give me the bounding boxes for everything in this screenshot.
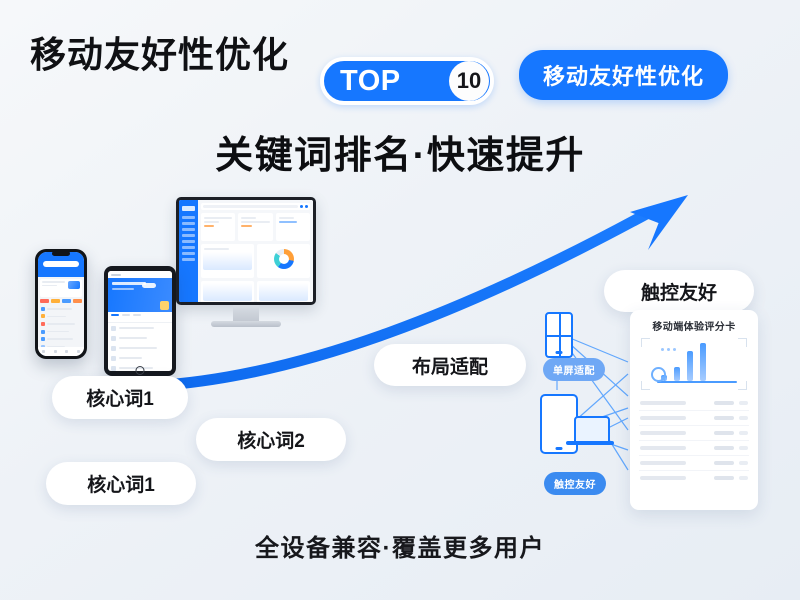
monitor-screen: [176, 197, 316, 305]
score-card-title: 移动端体验评分卡: [639, 318, 749, 333]
diagram-laptop-base: [566, 441, 614, 445]
page-subtitle: 关键词排名·快速提升: [215, 124, 585, 179]
tablet-mockup: [104, 266, 176, 376]
phone-chip-row: [38, 299, 84, 303]
poster-canvas: 移动友好性优化 TOP 10 移动友好性优化 关键词排名·快速提升: [0, 0, 800, 600]
pill-keyword-3-label: 核心词1: [87, 470, 155, 497]
pill-layout-fit-label: 布局适配: [412, 352, 488, 379]
donut-chart-card: [257, 244, 310, 278]
pill-layout-fit[interactable]: 布局适配: [374, 344, 526, 386]
pill-keyword-1-label: 核心词1: [86, 384, 154, 411]
pill-keyword-2-label: 核心词2: [237, 426, 305, 453]
dashboard-body: [198, 200, 313, 302]
table-row: [639, 441, 749, 456]
table-row: [639, 456, 749, 471]
phone-tabbar: [38, 347, 84, 356]
table-row: [639, 471, 749, 485]
phone-search-bar: [43, 261, 79, 267]
dashboard-sidebar: [179, 200, 198, 302]
top-badge-number: 10: [449, 61, 489, 101]
mobile-score-card: 移动端体验评分卡: [630, 310, 758, 510]
line-chart-card: [201, 244, 254, 278]
desktop-monitor-mockup: [176, 197, 316, 327]
table-row: [639, 396, 749, 411]
top10-badge: TOP 10: [320, 57, 494, 105]
pill-keyword-3[interactable]: 核心词1: [46, 462, 196, 505]
score-card-chart: [639, 338, 749, 390]
header-tag-badge: 移动友好性优化: [519, 50, 728, 100]
diagram-phone-small: [545, 312, 573, 358]
top-badge-word: TOP: [340, 65, 401, 98]
phone-notch: [52, 251, 70, 256]
monitor-neck: [233, 305, 259, 321]
monitor-base: [211, 321, 281, 327]
pill-keyword-1[interactable]: 核心词1: [52, 376, 188, 419]
score-bars: [661, 341, 735, 381]
donut-chart: [274, 249, 294, 269]
tablet-home-button: [136, 366, 145, 375]
device-connection-diagram: 单屏适配 触控友好 移动端体验评分卡: [540, 300, 780, 520]
diagram-label-screen: 单屏适配: [543, 358, 605, 381]
phone-banner-card: [40, 279, 82, 297]
pill-keyword-2[interactable]: 核心词2: [196, 418, 346, 461]
page-title: 移动友好性优化: [30, 26, 289, 78]
phone-mockup: [35, 249, 87, 359]
table-row: [639, 426, 749, 441]
table-row: [639, 411, 749, 426]
tablet-hero-banner: [108, 278, 172, 312]
magnifier-icon: [651, 367, 666, 382]
diagram-phone-large: [540, 394, 578, 454]
diagram-label-touch: 触控友好: [544, 472, 606, 495]
footer-tagline: 全设备兼容·覆盖更多用户: [255, 528, 545, 563]
score-card-rows: [639, 396, 749, 485]
